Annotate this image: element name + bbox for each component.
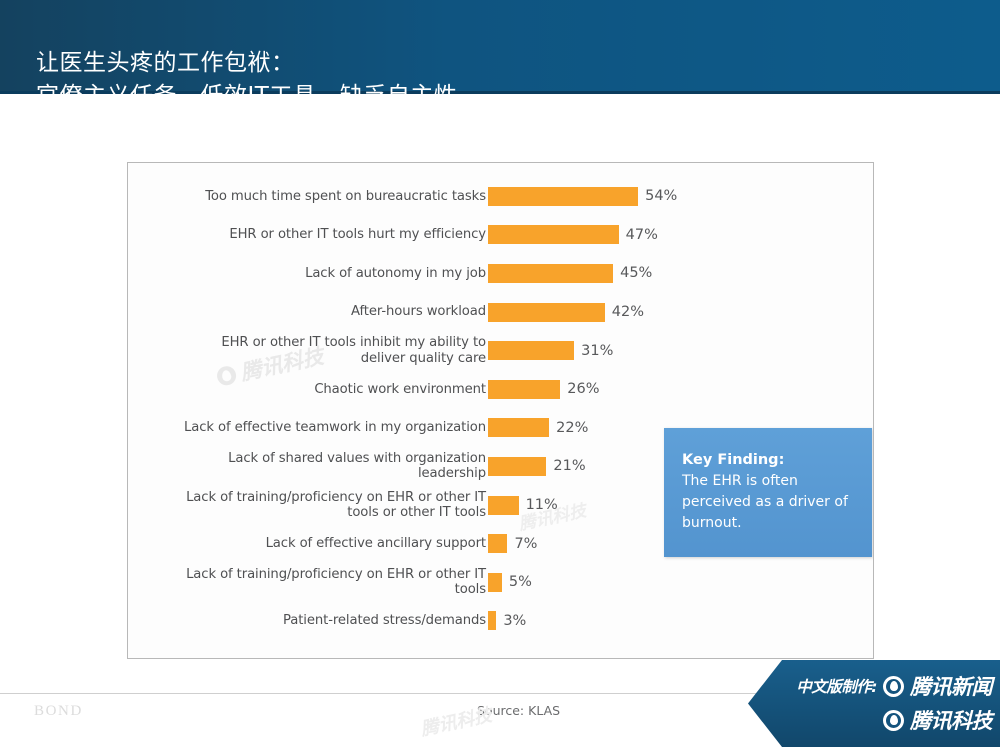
bar-category-label: Too much time spent on bureaucratic task… [156, 189, 486, 205]
source-note: Source: KLAS [477, 703, 560, 718]
page-title-line-1: 让医生头疼的工作包袱： [36, 50, 295, 76]
key-finding-callout: Key Finding: The EHR is often perceived … [664, 428, 872, 557]
bar-value-label: 31% [581, 343, 613, 359]
bar-category-label: EHR or other IT tools hurt my efficiency [156, 227, 486, 243]
bar-fill [488, 303, 605, 322]
credit-name-news: 腾讯新闻 [910, 671, 992, 701]
bar-fill [488, 225, 619, 244]
bar-track: 21% [488, 457, 586, 476]
bar-category-label: Lack of shared values with organization … [156, 451, 486, 482]
bar-value-label: 47% [626, 227, 658, 243]
bar-track: 3% [488, 611, 526, 630]
bar-category-label: After-hours workload [156, 304, 486, 320]
bar-category-label: Lack of effective teamwork in my organiz… [156, 420, 486, 436]
bar-value-label: 45% [620, 265, 652, 281]
header-band: 让医生头疼的工作包袱： 官僚主义任务、低效IT工具、缺乏自主性 [0, 0, 1000, 94]
bar-row: Lack of autonomy in my job45% [128, 254, 873, 293]
bar-category-label: Chaotic work environment [156, 382, 486, 398]
bar-track: 22% [488, 418, 588, 437]
credit-prefix-label: 中文版制作: [796, 675, 877, 697]
bar-value-label: 26% [567, 381, 599, 397]
bar-row: EHR or other IT tools hurt my efficiency… [128, 216, 873, 255]
key-finding-body: The EHR is often perceived as a driver o… [682, 471, 854, 534]
bar-value-label: 5% [509, 574, 532, 590]
credit-row-news: 中文版制作: 腾讯新闻 [792, 669, 992, 703]
bar-category-label: Lack of effective ancillary support [156, 536, 486, 552]
bar-fill [488, 187, 638, 206]
bar-fill [488, 611, 496, 630]
bar-fill [488, 573, 502, 592]
bar-value-label: 22% [556, 420, 588, 436]
bar-fill [488, 341, 574, 360]
bar-row: Patient-related stress/demands3% [128, 602, 873, 641]
chart-container: Too much time spent on bureaucratic task… [127, 162, 874, 659]
bar-track: 5% [488, 573, 532, 592]
bar-category-label: Lack of training/proficiency on EHR or o… [156, 567, 486, 598]
bar-value-label: 42% [612, 304, 644, 320]
bar-track: 26% [488, 380, 600, 399]
bar-track: 7% [488, 534, 537, 553]
bar-row: Lack of training/proficiency on EHR or o… [128, 563, 873, 602]
bar-fill [488, 496, 519, 515]
bar-row: Chaotic work environment26% [128, 370, 873, 409]
bar-track: 31% [488, 341, 613, 360]
bar-fill [488, 418, 549, 437]
bar-fill [488, 534, 507, 553]
bar-value-label: 21% [553, 458, 585, 474]
footer-divider [0, 693, 790, 694]
bar-track: 45% [488, 264, 652, 283]
page-title: 让医生头疼的工作包袱： 官僚主义任务、低效IT工具、缺乏自主性 [36, 14, 956, 146]
credit-banner: 中文版制作: 腾讯新闻 腾讯科技 [748, 660, 1000, 747]
bar-fill [488, 264, 613, 283]
bar-track: 47% [488, 225, 658, 244]
bar-value-label: 11% [526, 497, 558, 513]
bar-category-label: Patient-related stress/demands [156, 613, 486, 629]
bar-value-label: 54% [645, 188, 677, 204]
bar-value-label: 7% [514, 536, 537, 552]
bar-category-label: Lack of training/proficiency on EHR or o… [156, 490, 486, 521]
credit-name-tech: 腾讯科技 [910, 705, 992, 735]
bond-logo: BOND [34, 703, 83, 720]
bar-fill [488, 457, 546, 476]
bar-row: EHR or other IT tools inhibit my ability… [128, 331, 873, 370]
bar-track: 11% [488, 496, 558, 515]
bar-category-label: EHR or other IT tools inhibit my ability… [156, 335, 486, 366]
bar-value-label: 3% [503, 613, 526, 629]
tencent-logo-icon [883, 710, 904, 731]
bar-track: 54% [488, 187, 677, 206]
tencent-logo-icon [883, 676, 904, 697]
bar-fill [488, 380, 560, 399]
bar-row: Too much time spent on bureaucratic task… [128, 177, 873, 216]
slide-canvas: 让医生头疼的工作包袱： 官僚主义任务、低效IT工具、缺乏自主性 Too much… [0, 0, 1000, 747]
page-title-line-2: 官僚主义任务、低效IT工具、缺乏自主性 [36, 80, 956, 113]
bar-track: 42% [488, 303, 644, 322]
key-finding-title: Key Finding: [682, 450, 854, 471]
bar-category-label: Lack of autonomy in my job [156, 266, 486, 282]
bar-row: After-hours workload42% [128, 293, 873, 332]
credit-row-tech: 腾讯科技 [792, 703, 992, 737]
